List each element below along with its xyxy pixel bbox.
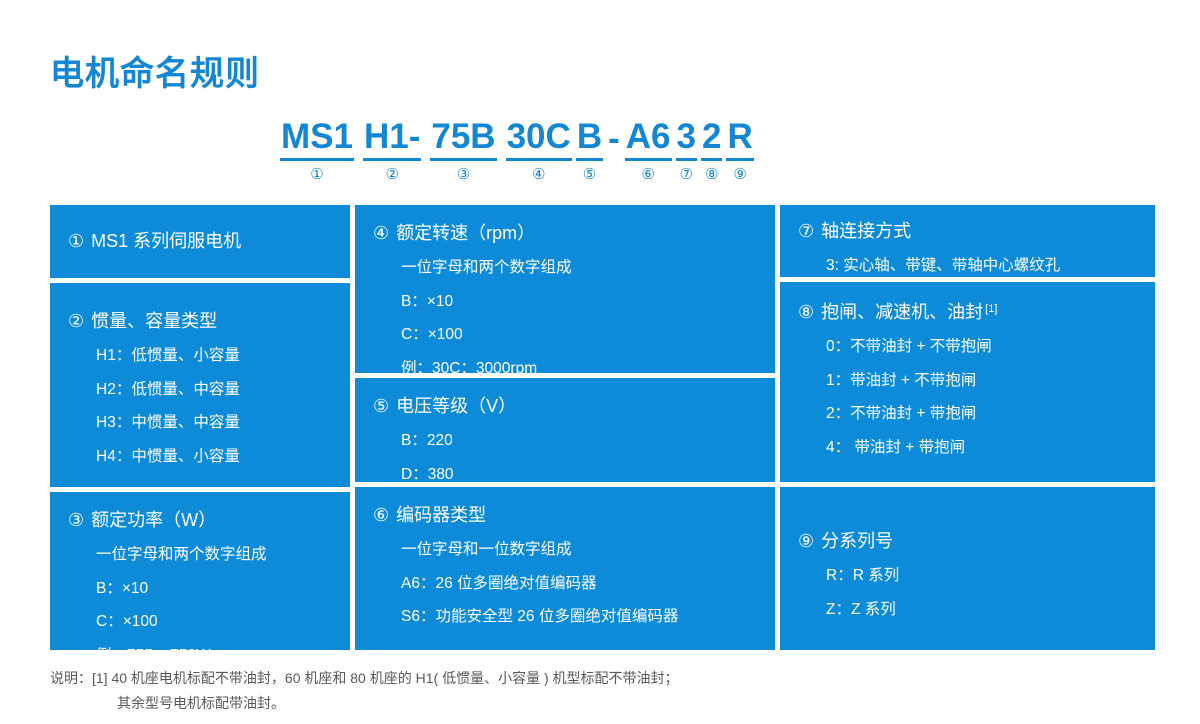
list-item: H1：低惯量、小容量	[68, 345, 332, 367]
circled-number-icon: ⑥	[373, 506, 389, 524]
list-item: S6：功能安全型 26 位多圈绝对值编码器	[373, 606, 757, 628]
cell-inertia-capacity: ② 惯量、容量类型 H1：低惯量、小容量 H2：低惯量、中容量 H3：中惯量、中…	[50, 283, 350, 487]
list-item: H2：低惯量、中容量	[68, 379, 332, 401]
list-item: 一位字母和两个数字组成	[373, 257, 757, 279]
list-item: 3: 实心轴、带键、带轴中心螺纹孔	[798, 255, 1137, 277]
code-segment-text: 75B	[430, 118, 496, 161]
list-item: D：380	[373, 464, 757, 486]
cell-heading: ③ 额定功率（W）	[68, 508, 332, 532]
circled-number-icon: ⑧	[798, 303, 814, 321]
code-segment-text: R	[726, 118, 753, 161]
list-item: 2：不带油封 + 带抱闸	[798, 403, 1137, 425]
list-item: H4：中惯量、小容量	[68, 446, 332, 468]
list-item: H3：中惯量、中容量	[68, 412, 332, 434]
code-segment-index: ⑧	[705, 167, 718, 182]
code-segment-index: ⑦	[680, 167, 693, 182]
cell-heading: ⑥ 编码器类型	[373, 503, 757, 527]
cell-voltage-class: ⑤ 电压等级（V） B：220 D：380	[355, 378, 775, 482]
list-item: 1：带油封 + 不带抱闸	[798, 370, 1137, 392]
cell-heading-text: 编码器类型	[396, 503, 486, 527]
code-segment-8: 2 ⑧	[701, 118, 722, 182]
cell-heading-text: 额定功率（W）	[91, 508, 216, 532]
code-segment-6: A6 ⑥	[625, 118, 672, 182]
cell-heading-text: MS1 系列伺服电机	[91, 229, 241, 253]
list-item: R：R 系列	[798, 565, 1137, 587]
table-column-left: ① MS1 系列伺服电机 ② 惯量、容量类型 H1：低惯量、小容量 H2：低惯量…	[50, 205, 350, 650]
cell-option-list: 0：不带油封 + 不带抱闸 1：带油封 + 不带抱闸 2：不带油封 + 带抱闸 …	[798, 336, 1137, 459]
code-segment-text: B	[576, 118, 603, 161]
code-segment-4: 30C ④	[506, 118, 572, 182]
list-item: C：×100	[68, 611, 332, 633]
cell-rated-power: ③ 额定功率（W） 一位字母和两个数字组成 B：×10 C：×100 例：75B…	[50, 492, 350, 650]
naming-rule-table: ① MS1 系列伺服电机 ② 惯量、容量类型 H1：低惯量、小容量 H2：低惯量…	[50, 205, 1155, 650]
code-segment-text: A6	[625, 118, 672, 161]
code-segment-3: 75B ③	[430, 118, 496, 182]
cell-rated-speed: ④ 额定转速（rpm） 一位字母和两个数字组成 B：×10 C：×100 例：3…	[355, 205, 775, 373]
cell-option-list: 一位字母和两个数字组成 B：×10 C：×100 例：30C：3000rpm	[373, 257, 757, 380]
page-title: 电机命名规则	[50, 57, 260, 91]
footnote-line-1: 说明：[1] 40 机座电机标配不带油封，60 机座和 80 机座的 H1( 低…	[50, 666, 679, 691]
cell-heading-text: 分系列号	[821, 529, 893, 553]
list-item: B：×10	[68, 578, 332, 600]
footnote-marker: [1]	[985, 302, 997, 317]
code-segment-text: 30C	[506, 118, 572, 161]
list-item: B：×10	[373, 291, 757, 313]
code-segment-text: 3	[676, 118, 697, 161]
code-segment-index: ④	[532, 167, 545, 182]
cell-heading-text: 额定转速（rpm）	[396, 221, 535, 245]
code-separator-dash: -	[607, 120, 621, 158]
cell-heading: ⑦ 轴连接方式	[798, 219, 1137, 243]
list-item: 0：不带油封 + 不带抱闸	[798, 336, 1137, 358]
list-item: 一位字母和一位数字组成	[373, 539, 757, 561]
code-segment-text: H1-	[363, 118, 421, 161]
cell-heading: ⑧ 抱闸、减速机、油封 [1]	[798, 300, 1137, 324]
footnote: 说明：[1] 40 机座电机标配不带油封，60 机座和 80 机座的 H1( 低…	[50, 666, 679, 715]
circled-number-icon: ②	[68, 312, 84, 330]
circled-number-icon: ①	[68, 232, 84, 250]
list-item: 例：30C：3000rpm	[373, 358, 757, 380]
code-segment-2: H1- ②	[363, 118, 421, 182]
code-segment-index: ①	[310, 167, 323, 182]
table-column-right: ⑦ 轴连接方式 3: 实心轴、带键、带轴中心螺纹孔 ⑧ 抱闸、减速机、油封 [1…	[780, 205, 1155, 650]
code-segment-text: 2	[701, 118, 722, 161]
code-segment-index: ⑤	[583, 167, 596, 182]
code-segment-index: ⑥	[641, 167, 654, 182]
cell-heading: ② 惯量、容量类型	[68, 309, 332, 333]
model-code-strip: MS1 ① H1- ② 75B ③ 30C ④ B ⑤ - A6 ⑥ 3 ⑦ 2…	[280, 118, 754, 182]
list-item: A6：26 位多圈绝对值编码器	[373, 573, 757, 595]
circled-number-icon: ⑤	[373, 397, 389, 415]
cell-option-list: 3: 实心轴、带键、带轴中心螺纹孔	[798, 255, 1137, 277]
cell-brake-reducer-oilseal: ⑧ 抱闸、减速机、油封 [1] 0：不带油封 + 不带抱闸 1：带油封 + 不带…	[780, 282, 1155, 482]
table-column-middle: ④ 额定转速（rpm） 一位字母和两个数字组成 B：×10 C：×100 例：3…	[355, 205, 775, 650]
code-segment-7: 3 ⑦	[676, 118, 697, 182]
cell-sub-series: ⑨ 分系列号 R：R 系列 Z：Z 系列	[780, 487, 1155, 650]
list-item: 例：75B：750W	[68, 645, 332, 667]
cell-heading-text: 惯量、容量类型	[91, 309, 217, 333]
cell-heading: ① MS1 系列伺服电机	[68, 229, 241, 253]
cell-heading-text: 抱闸、减速机、油封	[821, 300, 983, 324]
cell-heading: ⑨ 分系列号	[798, 529, 1137, 553]
code-segment-index: ⑨	[733, 167, 746, 182]
circled-number-icon: ③	[68, 511, 84, 529]
code-segment-index: ③	[457, 167, 470, 182]
code-segment-5: B ⑤	[576, 118, 603, 182]
cell-heading-text: 电压等级（V）	[396, 394, 516, 418]
code-segment-1: MS1 ①	[280, 118, 354, 182]
list-item: 一位字母和两个数字组成	[68, 544, 332, 566]
code-segment-index: ②	[385, 167, 398, 182]
cell-option-list: 一位字母和一位数字组成 A6：26 位多圈绝对值编码器 S6：功能安全型 26 …	[373, 539, 757, 628]
cell-option-list: R：R 系列 Z：Z 系列	[798, 565, 1137, 621]
list-item: Z：Z 系列	[798, 599, 1137, 621]
cell-series: ① MS1 系列伺服电机	[50, 205, 350, 278]
circled-number-icon: ⑨	[798, 532, 814, 550]
footnote-line-2: 其余型号电机标配带油封。	[50, 691, 679, 716]
list-item: C：×100	[373, 324, 757, 346]
cell-heading: ⑤ 电压等级（V）	[373, 394, 757, 418]
list-item: B：220	[373, 430, 757, 452]
cell-heading-text: 轴连接方式	[821, 219, 911, 243]
cell-option-list: 一位字母和两个数字组成 B：×10 C：×100 例：75B：750W	[68, 544, 332, 667]
code-segment-9: R ⑨	[726, 118, 753, 182]
cell-shaft-connection: ⑦ 轴连接方式 3: 实心轴、带键、带轴中心螺纹孔	[780, 205, 1155, 277]
cell-option-list: H1：低惯量、小容量 H2：低惯量、中容量 H3：中惯量、中容量 H4：中惯量、…	[68, 345, 332, 468]
cell-option-list: B：220 D：380	[373, 430, 757, 486]
circled-number-icon: ④	[373, 224, 389, 242]
cell-heading: ④ 额定转速（rpm）	[373, 221, 757, 245]
circled-number-icon: ⑦	[798, 222, 814, 240]
code-segment-text: -	[607, 120, 621, 158]
cell-encoder-type: ⑥ 编码器类型 一位字母和一位数字组成 A6：26 位多圈绝对值编码器 S6：功…	[355, 487, 775, 650]
list-item: 4： 带油封 + 带抱闸	[798, 437, 1137, 459]
code-segment-text: MS1	[280, 118, 354, 161]
